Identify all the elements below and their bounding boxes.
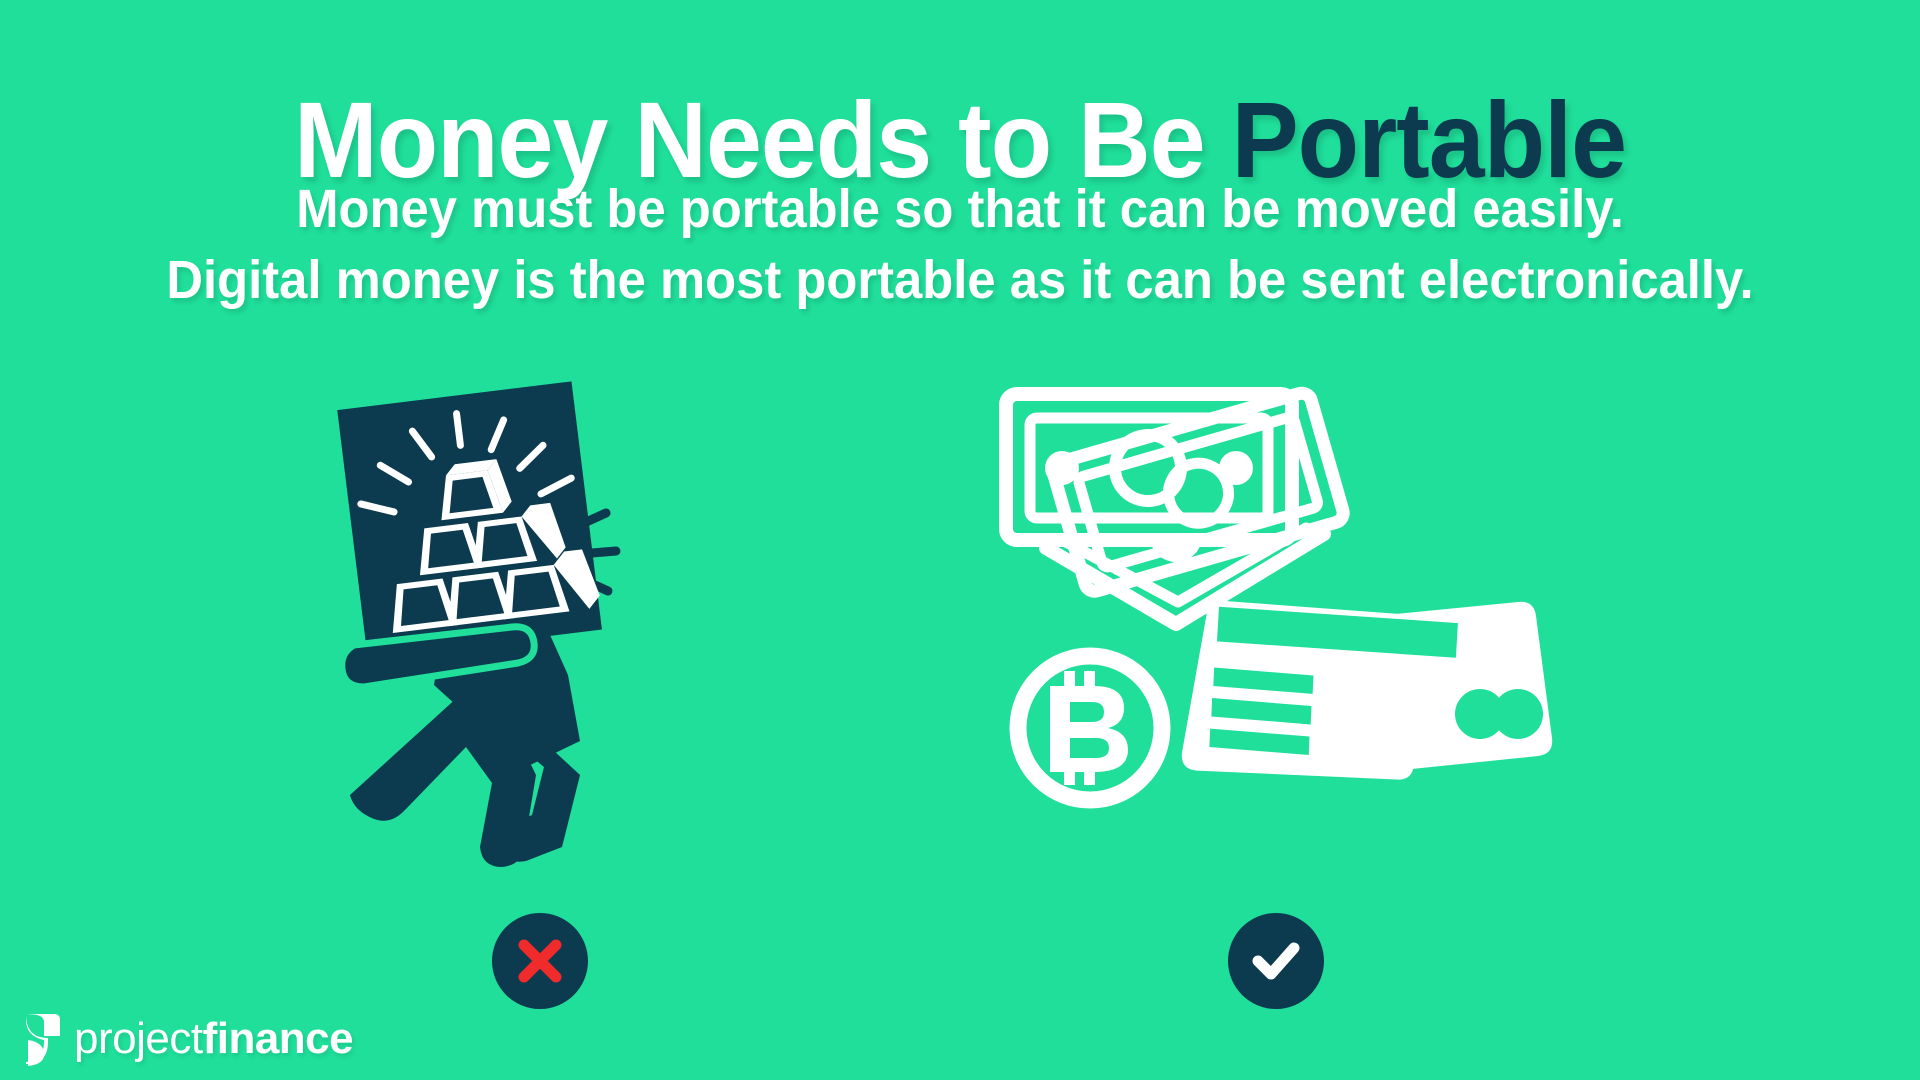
logo-word-finance: finance xyxy=(203,1014,354,1063)
projectfinance-mark-icon xyxy=(22,1010,62,1068)
status-badge-positive xyxy=(1228,913,1324,1009)
gold-carrier-svg xyxy=(330,395,750,875)
bitcoin-symbol xyxy=(1050,671,1128,785)
banknote-front-icon xyxy=(1006,394,1292,540)
infographic-canvas: Money Needs to Be Portable Money must be… xyxy=(0,0,1920,1080)
subtitle-line-2: Digital money is the most portable as it… xyxy=(58,245,1863,316)
page-subtitle: Money must be portable so that it can be… xyxy=(58,174,1863,317)
illustration-gold-carrier xyxy=(330,395,750,875)
bitcoin-coin-icon xyxy=(1018,656,1162,800)
check-icon xyxy=(1248,933,1304,989)
projectfinance-logo[interactable]: projectfinance xyxy=(22,1008,353,1070)
status-badge-negative xyxy=(492,913,588,1009)
illustration-digital-money xyxy=(1000,370,1600,850)
digital-money-svg xyxy=(1000,370,1600,850)
subtitle-line-1: Money must be portable so that it can be… xyxy=(58,174,1863,245)
cross-icon xyxy=(514,935,566,987)
logo-wordmark: projectfinance xyxy=(74,1017,353,1061)
logo-word-project: project xyxy=(74,1014,203,1063)
gold-crate xyxy=(337,381,604,658)
